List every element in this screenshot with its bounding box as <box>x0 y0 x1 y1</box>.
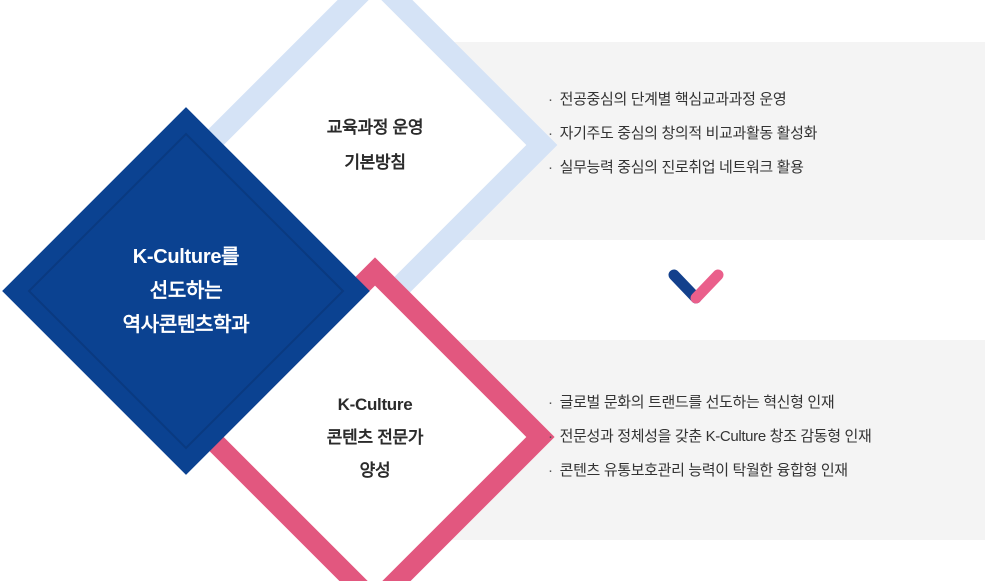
list-item: · 자기주도 중심의 창의적 비교과활동 활성화 <box>548 126 817 141</box>
policy-line-2: 기본방침 <box>344 154 405 171</box>
talent-goal-label: K-Culture 콘텐츠 전문가 양성 <box>268 330 482 544</box>
bullet-marker-icon: · <box>548 395 553 410</box>
talent-bullet-list: · 글로벌 문화의 트랜드를 선도하는 혁신형 인재 · 전문성과 정체성을 갖… <box>548 395 871 478</box>
list-item: · 글로벌 문화의 트랜드를 선도하는 혁신형 인재 <box>548 395 871 410</box>
list-item-text: 글로벌 문화의 트랜드를 선도하는 혁신형 인재 <box>560 395 835 410</box>
list-item-text: 전문성과 정체성을 갖춘 K-Culture 창조 감동형 인재 <box>560 429 872 444</box>
list-item: · 전공중심의 단계별 핵심교과과정 운영 <box>548 92 817 107</box>
list-item-text: 콘텐츠 유통보호관리 능력이 탁월한 융합형 인재 <box>560 463 848 478</box>
bullet-marker-icon: · <box>548 126 553 141</box>
talent-line-2: 콘텐츠 전문가 <box>327 429 423 446</box>
bullet-marker-icon: · <box>548 92 553 107</box>
list-item-text: 전공중심의 단계별 핵심교과과정 운영 <box>560 92 787 107</box>
list-item: · 전문성과 정체성을 갖춘 K-Culture 창조 감동형 인재 <box>548 429 871 444</box>
bullet-marker-icon: · <box>548 429 553 444</box>
policy-bullet-list: · 전공중심의 단계별 핵심교과과정 운영 · 자기주도 중심의 창의적 비교과… <box>548 92 817 175</box>
list-item: · 콘텐츠 유통보호관리 능력이 탁월한 융합형 인재 <box>548 463 871 478</box>
bullet-marker-icon: · <box>548 463 553 478</box>
curriculum-policy-label: 교육과정 운영 기본방침 <box>268 38 482 252</box>
chevron-right-stroke <box>696 275 718 298</box>
talent-line-1: K-Culture <box>338 396 413 413</box>
list-item-text: 자기주도 중심의 창의적 비교과활동 활성화 <box>560 126 817 141</box>
policy-line-1: 교육과정 운영 <box>327 119 423 136</box>
talent-line-3: 양성 <box>360 462 391 479</box>
chevron-down-icon <box>668 268 724 306</box>
list-item: · 실무능력 중심의 진로취업 네트워크 활용 <box>548 160 817 175</box>
bullet-marker-icon: · <box>548 160 553 175</box>
diagram-canvas: 교육과정 운영 기본방침 K-Culture 콘텐츠 전문가 양성 K-Cult… <box>0 0 985 581</box>
list-item-text: 실무능력 중심의 진로취업 네트워크 활용 <box>560 160 804 175</box>
